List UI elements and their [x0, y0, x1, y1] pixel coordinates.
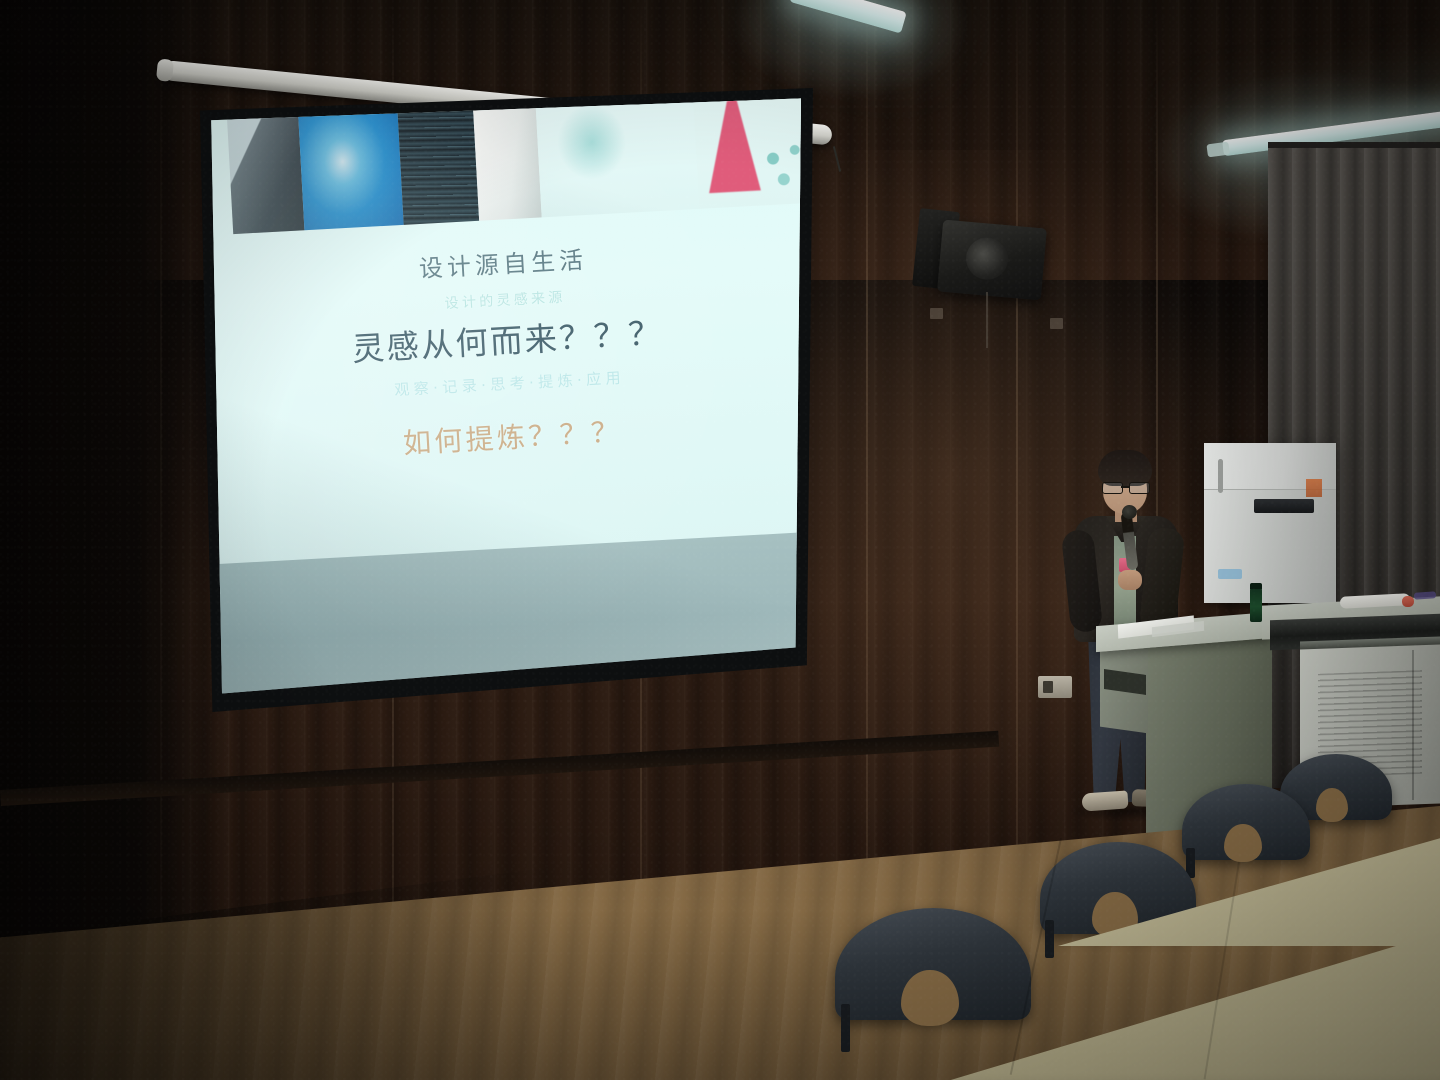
- strip-image-pale-teal-foliage: [534, 96, 699, 217]
- air-conditioner-display-panel[interactable]: [1254, 499, 1314, 513]
- wall-speaker: [937, 220, 1047, 301]
- projection-screen-surface: 设计源自生活 设计的灵感来源 灵感从何而来？？？ 观察·记录·思考·提炼·应用 …: [204, 96, 804, 702]
- air-conditioner-vent-slot: [1218, 459, 1223, 493]
- projected-slide: 设计源自生活 设计的灵感来源 灵感从何而来？？？ 观察·记录·思考·提炼·应用 …: [204, 96, 804, 595]
- drink-bottle-cap: [1250, 583, 1262, 589]
- slide-image-strip: [226, 96, 804, 234]
- air-conditioner-brand-logo: [1218, 569, 1242, 579]
- wall-seam: [866, 0, 868, 1000]
- glasses-lens-right: [1129, 482, 1150, 494]
- chair-leg: [1045, 920, 1054, 958]
- strip-image-white-wall-corner: [472, 96, 542, 221]
- strip-image-red-tree-crimson: [692, 96, 804, 209]
- strip-image-dark-textured-ripple: [396, 96, 479, 225]
- air-conditioner: [1204, 443, 1336, 603]
- glasses-icon: [1102, 482, 1149, 492]
- speaker-cone-icon: [964, 236, 1010, 282]
- drink-bottle: [1250, 588, 1262, 622]
- air-conditioner-badge: [1306, 479, 1322, 497]
- slide-question-two: 如何提炼？？？: [204, 398, 804, 473]
- chair-backrest-cutout: [1224, 824, 1262, 862]
- chair-leg: [841, 1004, 850, 1052]
- presenter-hand: [1118, 570, 1142, 590]
- wall-plate: [930, 308, 943, 319]
- presenter-shoe-left: [1081, 790, 1128, 811]
- chair-backrest-cutout: [1316, 788, 1348, 822]
- glasses-bridge: [1121, 486, 1129, 488]
- glasses-lens-left: [1102, 482, 1123, 494]
- speaker-wire: [986, 292, 988, 348]
- wall-plate: [1050, 318, 1063, 329]
- wall-shadow-left: [0, 0, 230, 1000]
- console-door-seam: [1412, 650, 1414, 800]
- presenter-hair: [1098, 450, 1152, 486]
- lecture-room-photo: 设计源自生活 设计的灵感来源 灵感从何而来？？？ 观察·记录·思考·提炼·应用 …: [0, 0, 1440, 1080]
- power-outlet[interactable]: [1038, 676, 1072, 698]
- rolled-poster-end: [1402, 596, 1415, 608]
